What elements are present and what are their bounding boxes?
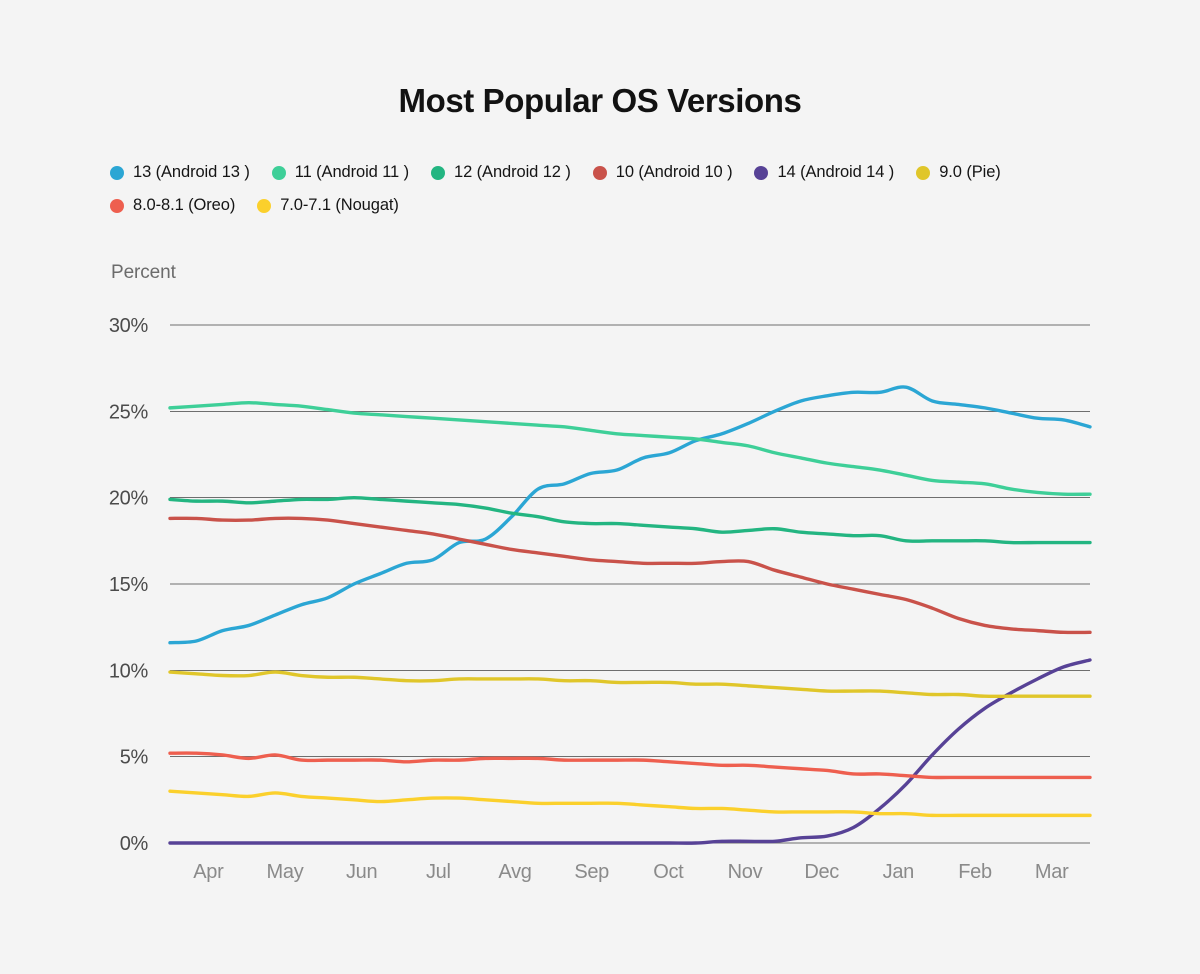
x-axis-tick-labels: AprMayJunJulAvgSepOctNovDecJanFebMar [193, 861, 1069, 883]
y-axis-tick-label: 10% [109, 660, 149, 682]
plot-area: 0%5%10%15%20%25%30% AprMayJunJulAvgSepOc… [0, 0, 1200, 974]
y-axis-tick-label: 0% [120, 833, 149, 855]
x-axis-tick-label: Jun [346, 861, 377, 883]
x-axis-tick-label: May [267, 861, 304, 883]
y-axis-tick-label: 15% [109, 574, 149, 596]
x-axis-tick-label: Sep [574, 861, 609, 883]
x-axis-tick-label: Dec [804, 861, 839, 883]
y-axis-tick-label: 5% [120, 747, 149, 769]
y-axis-tick-label: 25% [109, 401, 149, 423]
series-line [170, 518, 1090, 632]
line-chart-svg: 0%5%10%15%20%25%30% AprMayJunJulAvgSepOc… [0, 0, 1200, 974]
series-line [170, 387, 1090, 643]
x-axis-tick-label: Oct [653, 861, 684, 883]
x-axis-tick-label: Apr [193, 861, 224, 883]
series-lines [170, 387, 1090, 843]
y-axis-tick-label: 30% [109, 315, 149, 337]
y-axis-tick-label: 20% [109, 488, 149, 510]
x-axis-tick-label: Jul [426, 861, 451, 883]
chart-page: Most Popular OS Versions 13 (Android 13 … [0, 0, 1200, 974]
x-axis-tick-label: Avg [498, 861, 531, 883]
series-line [170, 791, 1090, 815]
x-axis-tick-label: Feb [958, 861, 992, 883]
x-axis-tick-label: Mar [1035, 861, 1069, 883]
y-axis-tick-labels: 0%5%10%15%20%25%30% [109, 315, 149, 855]
series-line [170, 403, 1090, 495]
series-line [170, 672, 1090, 696]
x-axis-tick-label: Jan [883, 861, 914, 883]
x-axis-tick-label: Nov [728, 861, 763, 883]
